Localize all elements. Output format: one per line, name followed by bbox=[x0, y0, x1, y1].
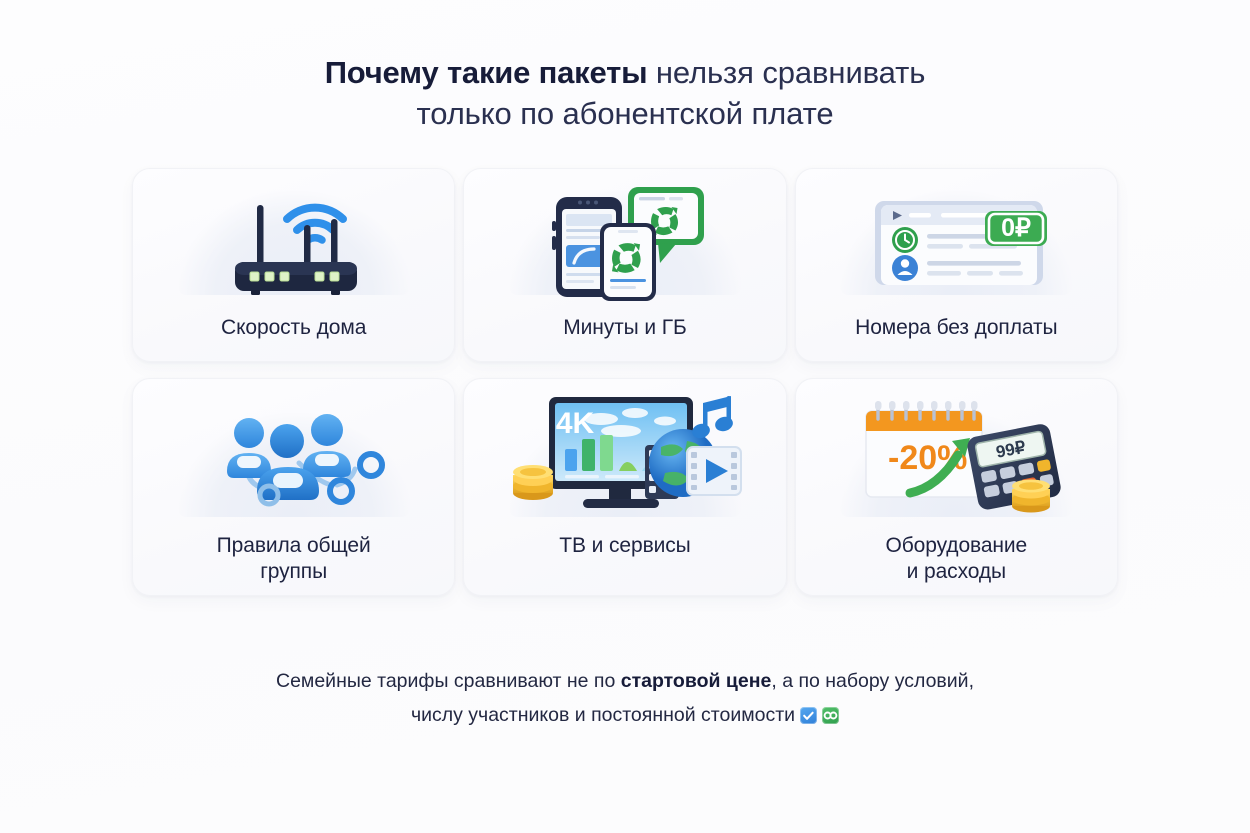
icon-area: -20% 99₽ bbox=[796, 387, 1117, 523]
footer-text-c: числу участников и постоянной стоимости bbox=[411, 704, 795, 726]
tv-4k-label: 4K bbox=[556, 407, 595, 440]
phones-calls-icon bbox=[530, 181, 720, 301]
footer-line-1: Семейные тарифы сравнивают не по стартов… bbox=[0, 665, 1250, 699]
blue-check-badge-icon bbox=[800, 707, 817, 724]
zero-price-badge-text: 0₽ bbox=[1001, 214, 1031, 242]
label-line-2: и расходы bbox=[907, 560, 1006, 583]
card-label-tv-services: ТВ и сервисы bbox=[549, 533, 700, 559]
icon-area: 4K bbox=[464, 387, 785, 523]
icon-area bbox=[133, 387, 454, 523]
icon-area bbox=[464, 177, 785, 301]
label-line-1: Правила общей bbox=[217, 534, 371, 557]
title-light: нельзя сравнивать bbox=[647, 55, 925, 90]
card-numbers-no-fee[interactable]: 0₽ Номера без доплаты bbox=[795, 168, 1118, 362]
footer-text-a: Семейные тарифы сравнивают не по bbox=[276, 670, 621, 692]
card-label-group-rules: Правила общейгруппы bbox=[207, 533, 381, 586]
group-network-icon bbox=[199, 393, 389, 523]
feature-card-grid: Скорость дома bbox=[132, 168, 1118, 596]
footer-text-b: , а по набору условий, bbox=[771, 670, 974, 692]
title-strong: Почему такие пакеты bbox=[325, 55, 648, 90]
tv-globe-media-icon: 4K bbox=[505, 391, 745, 523]
title-line-2: только по абонентской плате bbox=[0, 93, 1250, 134]
card-label-numbers-no-fee: Номера без доплаты bbox=[845, 315, 1067, 341]
footer-line-2: числу участников и постоянной стоимости bbox=[0, 699, 1250, 733]
calendar-calculator-icon: -20% 99₽ bbox=[848, 393, 1064, 523]
card-equipment-costs[interactable]: -20% 99₽ bbox=[795, 378, 1118, 596]
contact-list-zero-price-icon: 0₽ bbox=[857, 189, 1055, 301]
page-title: Почему такие пакеты нельзя сравнивать то… bbox=[0, 52, 1250, 134]
card-tv-services[interactable]: 4K bbox=[463, 378, 786, 596]
footer-text-strong: стартовой цене bbox=[621, 670, 772, 692]
infographic-page: Почему такие пакеты нельзя сравнивать то… bbox=[0, 0, 1250, 833]
label-line-1: Оборудование bbox=[886, 534, 1028, 557]
card-group-rules[interactable]: Правила общейгруппы bbox=[132, 378, 455, 596]
card-label-equipment-costs: Оборудованиеи расходы bbox=[876, 533, 1038, 586]
card-minutes-gb[interactable]: Минуты и ГБ bbox=[463, 168, 786, 362]
card-home-speed[interactable]: Скорость дома bbox=[132, 168, 455, 362]
card-label-minutes-gb: Минуты и ГБ bbox=[553, 315, 697, 341]
wifi-router-icon bbox=[209, 183, 379, 301]
title-line-1: Почему такие пакеты нельзя сравнивать bbox=[0, 52, 1250, 93]
green-infinity-badge-icon bbox=[822, 707, 839, 724]
icon-area bbox=[133, 177, 454, 301]
footer-note: Семейные тарифы сравнивают не по стартов… bbox=[0, 665, 1250, 732]
label-line-2: группы bbox=[260, 560, 327, 583]
icon-area: 0₽ bbox=[796, 177, 1117, 301]
card-label-home-speed: Скорость дома bbox=[211, 315, 376, 341]
